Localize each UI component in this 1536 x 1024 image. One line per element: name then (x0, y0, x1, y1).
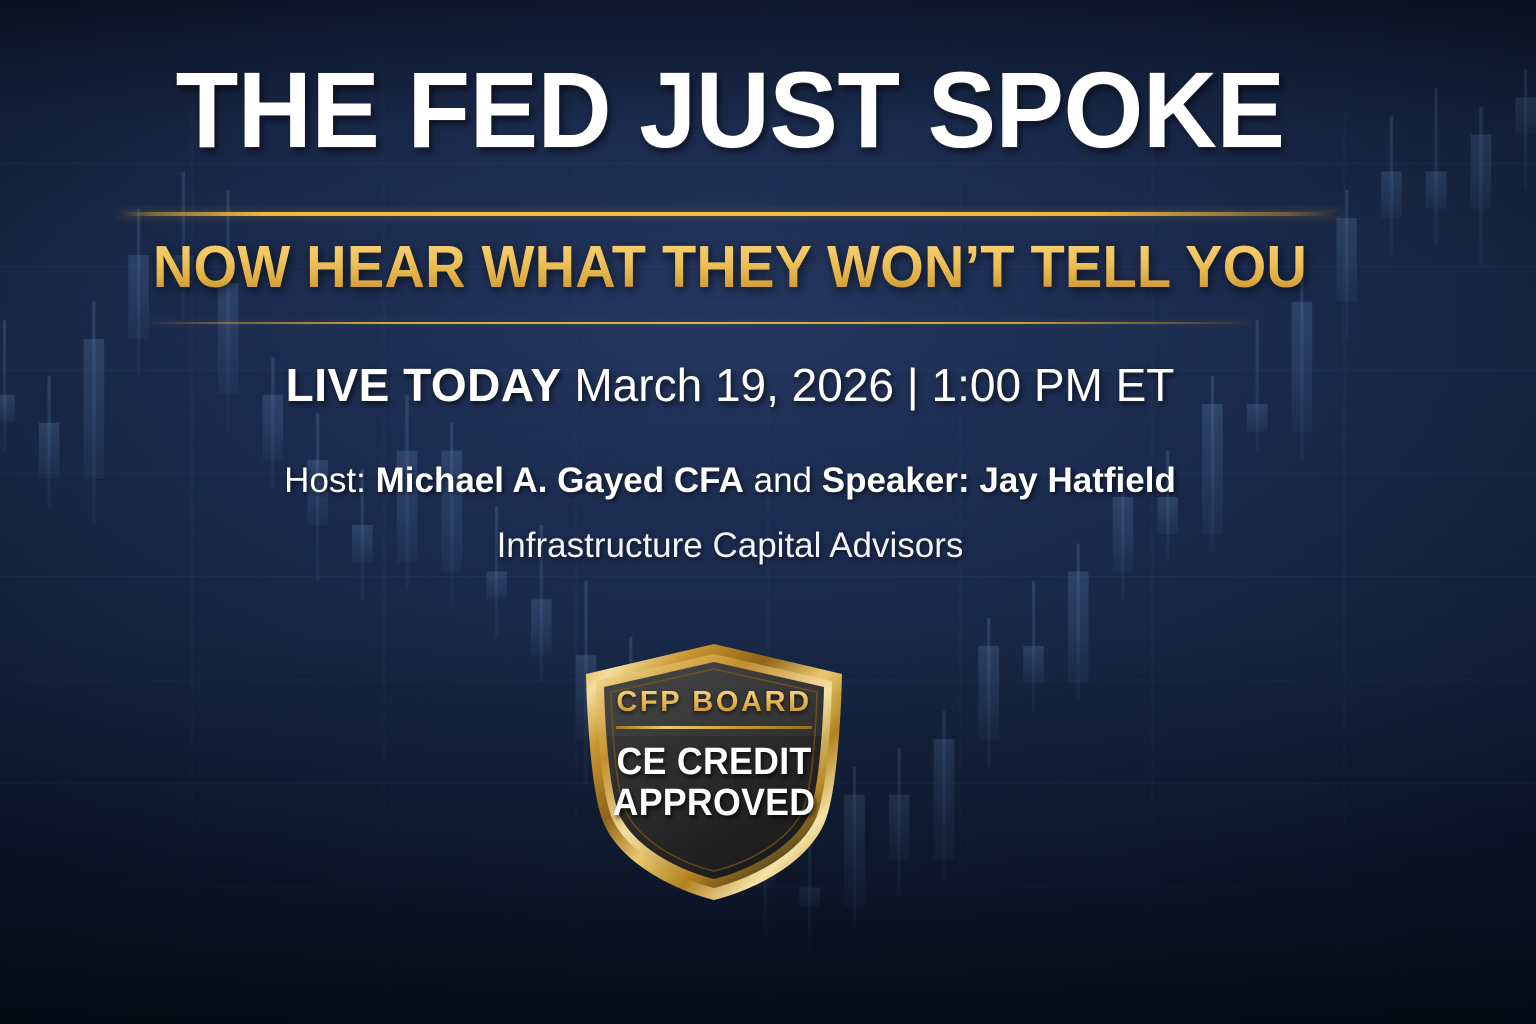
speaker-name: Jay Hatfield (979, 461, 1175, 500)
space-2 (744, 461, 754, 500)
host-label: Host: (284, 461, 366, 500)
divider-top (118, 212, 1340, 216)
space-3 (812, 461, 822, 500)
subtitle: NOW HEAR WHAT THEY WON’T TELL YOU (37, 238, 1424, 297)
promo-graphic: THE FED JUST SPOKE NOW HEAR WHAT THEY WO… (0, 0, 1536, 1024)
cfp-board-ce-credit-badge: CFP BOARD CE CREDIT APPROVED (578, 638, 850, 904)
shield-icon (578, 638, 850, 904)
page-title: THE FED JUST SPOKE (37, 56, 1424, 164)
date-time-text: March 19, 2026 | 1:00 PM ET (562, 359, 1175, 411)
host-name: Michael A. Gayed CFA (376, 461, 744, 500)
event-dateline: LIVE TODAY March 19, 2026 | 1:00 PM ET (0, 362, 1460, 408)
content-block: THE FED JUST SPOKE NOW HEAR WHAT THEY WO… (0, 0, 1460, 1024)
space-4 (970, 461, 980, 500)
presenters-line: Host: Michael A. Gayed CFA and Speaker: … (0, 463, 1460, 498)
divider-bottom (146, 322, 1256, 324)
organization-name: Infrastructure Capital Advisors (0, 528, 1460, 563)
conjunction: and (754, 461, 812, 500)
live-label: LIVE TODAY (286, 359, 562, 411)
speaker-label: Speaker: (822, 461, 970, 500)
space-1 (366, 461, 376, 500)
